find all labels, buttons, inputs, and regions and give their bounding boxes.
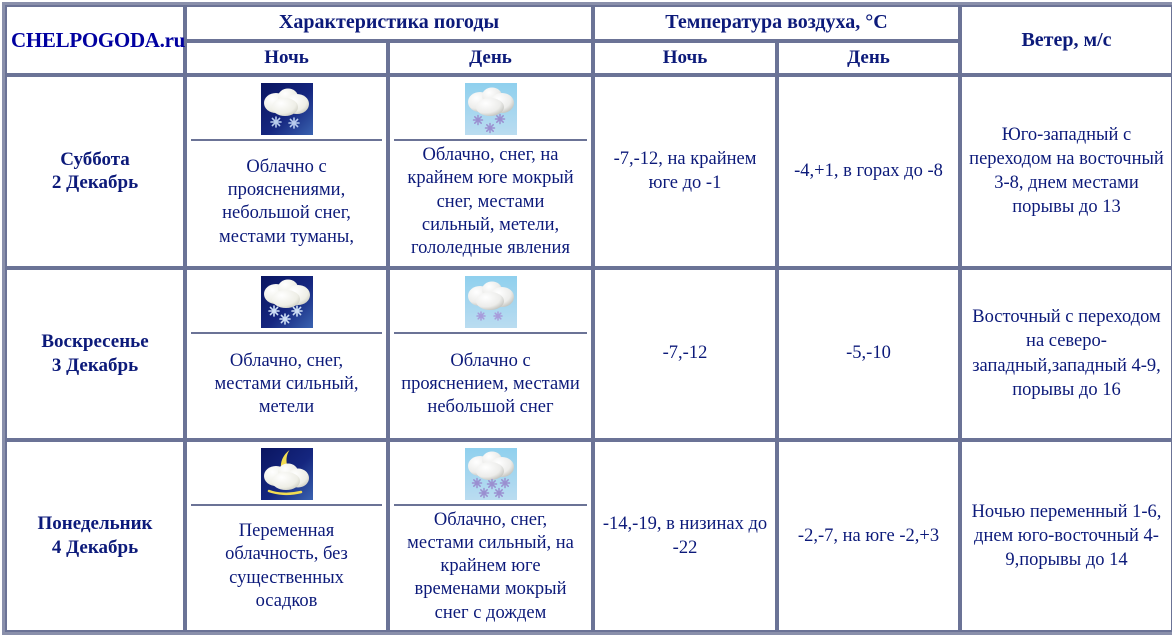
temperature-night-cell: -7,-12, на крайнем юге до -1 bbox=[593, 75, 777, 267]
header-wind-group: Ветер, м/с bbox=[960, 5, 1172, 75]
day-of-week: Воскресенье bbox=[11, 330, 179, 354]
temperature-day-cell: -4,+1, в горах до -8 bbox=[777, 75, 960, 267]
day-weather-icon-box bbox=[394, 79, 587, 141]
night-weather-icon-box bbox=[191, 444, 382, 506]
table-row: Суббота 2 Декабрь bbox=[5, 75, 1172, 267]
temperature-night-value: -7,-12, на крайнем юге до -1 bbox=[614, 149, 757, 193]
night-weather-cell: Облачно с прояснениями, небольшой снег, … bbox=[185, 75, 388, 267]
temperature-night-cell: -7,-12 bbox=[593, 268, 777, 440]
header-temperature-night: Ночь bbox=[593, 41, 777, 75]
wind-value: Юго-западный с переходом на восточный 3-… bbox=[969, 125, 1164, 217]
temperature-day-value: -4,+1, в горах до -8 bbox=[794, 161, 943, 181]
wind-value: Ночью переменный 1-6, днем юго-восточный… bbox=[972, 502, 1162, 570]
wind-value: Восточный с переходом на северо-западный… bbox=[972, 307, 1161, 399]
day-cloudy-snow-icon bbox=[465, 83, 517, 135]
temperature-day-cell: -5,-10 bbox=[777, 268, 960, 440]
temperature-day-value: -5,-10 bbox=[846, 343, 891, 363]
day-of-week: Понедельник bbox=[11, 512, 179, 536]
day-weather-description: Облачно, снег, на крайнем юге мокрый сне… bbox=[400, 144, 581, 260]
wind-cell: Восточный с переходом на северо-западный… bbox=[960, 268, 1172, 440]
day-date: 4 Декабрь bbox=[11, 536, 179, 560]
night-weather-cell: Облачно, снег, местами сильный, метели bbox=[185, 268, 388, 440]
temperature-day-value: -2,-7, на юге -2,+3 bbox=[798, 526, 939, 546]
night-weather-description: Переменная облачность, без существенных … bbox=[197, 520, 376, 613]
day-label-cell: Воскресенье 3 Декабрь bbox=[5, 268, 185, 440]
day-weather-icon-box bbox=[394, 444, 587, 506]
night-weather-icon-box bbox=[191, 79, 382, 141]
day-weather-icon-box bbox=[394, 272, 587, 334]
night-cloudy-snow-icon bbox=[261, 276, 313, 328]
night-weather-icon-box bbox=[191, 272, 382, 334]
night-weather-description: Облачно с прояснениями, небольшой снег, … bbox=[197, 156, 376, 249]
night-weather-cell: Переменная облачность, без существенных … bbox=[185, 440, 388, 632]
header-row-groups: CHELPOGODA.ru Характеристика погоды Темп… bbox=[5, 5, 1172, 41]
day-date: 2 Декабрь bbox=[11, 171, 179, 195]
wind-cell: Ночью переменный 1-6, днем юго-восточный… bbox=[960, 440, 1172, 632]
night-weather-description: Облачно, снег, местами сильный, метели bbox=[197, 350, 376, 420]
day-weather-cell: Облачно с прояснением, местами небольшой… bbox=[388, 268, 593, 440]
day-cloudy-snow-icon bbox=[465, 448, 517, 500]
wind-cell: Юго-западный с переходом на восточный 3-… bbox=[960, 75, 1172, 267]
header-weather-night: Ночь bbox=[185, 41, 388, 75]
table-row: Воскресенье 3 Декабрь bbox=[5, 268, 1172, 440]
day-label-cell: Суббота 2 Декабрь bbox=[5, 75, 185, 267]
forecast-table: CHELPOGODA.ru Характеристика погоды Темп… bbox=[2, 2, 1172, 635]
header-weather-group: Характеристика погоды bbox=[185, 5, 593, 41]
temperature-night-value: -14,-19, в низинах до -22 bbox=[603, 514, 767, 558]
day-weather-cell: Облачно, снег, на крайнем юге мокрый сне… bbox=[388, 75, 593, 267]
header-temperature-day: День bbox=[777, 41, 960, 75]
night-partly-cloudy-moon-icon bbox=[261, 448, 313, 500]
day-date: 3 Декабрь bbox=[11, 354, 179, 378]
day-label-cell: Понедельник 4 Декабрь bbox=[5, 440, 185, 632]
day-cloudy-snow-icon bbox=[465, 276, 517, 328]
brand-logo[interactable]: CHELPOGODA.ru bbox=[5, 5, 185, 75]
weather-forecast-page: CHELPOGODA.ru Характеристика погоды Темп… bbox=[0, 2, 1172, 639]
day-weather-description: Облачно с прояснением, местами небольшой… bbox=[400, 350, 581, 420]
temperature-night-cell: -14,-19, в низинах до -22 bbox=[593, 440, 777, 632]
day-weather-description: Облачно, снег, местами сильный, на крайн… bbox=[400, 509, 581, 625]
header-weather-day: День bbox=[388, 41, 593, 75]
day-weather-cell: Облачно, снег, местами сильный, на крайн… bbox=[388, 440, 593, 632]
temperature-day-cell: -2,-7, на юге -2,+3 bbox=[777, 440, 960, 632]
temperature-night-value: -7,-12 bbox=[663, 343, 708, 363]
day-of-week: Суббота bbox=[11, 148, 179, 172]
table-row: Понедельник 4 Декабрь bbox=[5, 440, 1172, 632]
night-cloudy-snow-icon bbox=[261, 83, 313, 135]
header-temperature-group: Температура воздуха, °C bbox=[593, 5, 960, 41]
